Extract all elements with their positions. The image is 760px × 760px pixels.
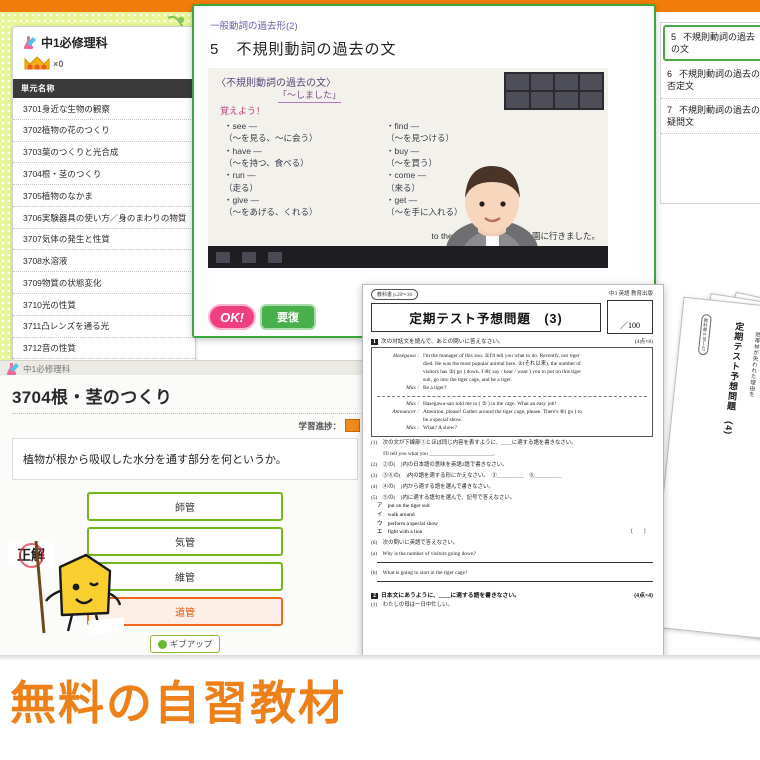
lesson-video[interactable]: 〈不規則動詞の過去の文〉 「～しました」 覚えよう！ ・see —（～を見る、～… xyxy=(208,68,608,268)
dialogue-line: visitors has ③( go ) down. I ④( say / he… xyxy=(377,368,647,376)
dialogue-line: Max :Hasegawa-san told me to ( ⑤ ) in th… xyxy=(377,400,647,408)
unit-list-header: 単元名称 xyxy=(13,79,195,98)
crown-stars-icon xyxy=(23,55,51,73)
unit-row[interactable]: 3703葉のつくりと光合成 xyxy=(13,142,195,164)
dialogue-speaker xyxy=(377,416,419,424)
unit-window-title-text: 中1必修理科 xyxy=(41,34,108,51)
unit-row[interactable]: 3701身近な生物の観察 xyxy=(13,98,195,120)
dialogue-text: suit, go into the tiger cage, and be a t… xyxy=(423,376,512,384)
dialogue-speaker: Max : xyxy=(377,400,419,408)
whiteboard-left-column: ・see —（～を見る、～に会う）・have —（～を持つ、食べる）・run —… xyxy=(224,120,318,219)
test-paper: 教科書 p.28～36 中3 英語 教育出版 定期テスト予想問題 (3) ／10… xyxy=(362,284,664,666)
unit-row[interactable]: 3709物質の状態変化 xyxy=(13,272,195,294)
question-text: 植物が根から吸収した水分を通す部分を何というか。 xyxy=(12,438,358,480)
yellow-house-mascot xyxy=(14,537,124,637)
lesson-title: 不規則動詞の過去の文 xyxy=(237,41,397,58)
paper-choice-option: ア put on the tiger suit xyxy=(363,502,663,511)
q1-points: (4点×8) xyxy=(635,337,653,345)
lesson-side-item-label: 不規則動詞の過去の疑問文 xyxy=(667,105,760,127)
score-box: ／100 xyxy=(607,300,653,334)
whiteboard-line: ・give — xyxy=(224,194,318,206)
lesson-side-item[interactable]: 7不規則動詞の過去の疑問文 xyxy=(661,99,760,134)
sub-question: I'll tell you what you ＿＿＿＿＿＿＿＿＿＿＿＿. xyxy=(363,448,663,459)
lesson-side-item-label: 不規則動詞の過去の文 xyxy=(671,32,755,54)
whiteboard-line: （走る） xyxy=(224,182,318,194)
paper-title-row: 定期テスト予想問題 (3) ／100 xyxy=(363,300,663,334)
dialogue-speaker xyxy=(377,368,419,376)
video-control-bar[interactable] xyxy=(208,246,608,268)
sub-question: (4) ④の( )内から適する語を選んで書きなさい。 xyxy=(363,481,663,492)
lesson-side-item[interactable]: 6不規則動詞の過去の否定文 xyxy=(661,63,760,98)
tool-icon-4[interactable] xyxy=(580,74,603,90)
whiteboard-line: ・run — xyxy=(224,169,318,181)
lesson-side-item[interactable]: 5不規則動詞の過去の文 xyxy=(663,25,760,61)
unit-row[interactable]: 3705植物のなかま xyxy=(13,185,195,207)
dialogue-text: visitors has ③( go ) down. I ④( say / he… xyxy=(423,368,581,376)
flask-pen-icon xyxy=(21,35,37,51)
q1-instruction-text: 次の対話文を読んで、あとの問いに答えなさい。 xyxy=(381,339,504,345)
paper-choice-option: イ walk around xyxy=(363,511,663,520)
progress-chip xyxy=(345,419,360,432)
sub-question: (2) ②の( )内の日本語の意味を英語2語で書きなさい。 xyxy=(363,459,663,470)
answer-rule xyxy=(377,561,653,563)
unit-row[interactable]: 3704根・茎のつくり xyxy=(13,163,195,185)
lesson-number: 5 xyxy=(210,41,219,58)
dialogue-text: Be a tiger? xyxy=(423,384,446,392)
play-icon[interactable] xyxy=(216,252,230,263)
giveup-face-icon xyxy=(158,640,167,649)
dialogue-line: died. He was the most popular animal her… xyxy=(377,360,647,368)
crown-score: ×0 xyxy=(13,53,195,79)
unit-list-card: 中1必修理科 ×0 単元名称 3701身近な生物の観察3702植物の花のつくり3… xyxy=(12,26,196,362)
dialogue-divider xyxy=(377,396,647,397)
dialogue-speaker: Max : xyxy=(377,384,419,392)
q2-row: 2日本文にあうように、＿＿に適する語を書きなさい。 (4点×4) xyxy=(363,586,663,599)
unit-row[interactable]: 3707気体の発生と性質 xyxy=(13,229,195,251)
lesson-heading: 5 不規則動詞の過去の文 xyxy=(194,32,654,65)
review-button[interactable]: 要復 xyxy=(262,306,314,328)
q6-instruction: (6) 次の問いに英語で答えなさい。 xyxy=(363,537,663,548)
whiteboard-note: 覚えよう！ xyxy=(220,104,265,117)
dialogue-speaker: Announcer : xyxy=(377,408,419,416)
dialogue-speaker: Max : xyxy=(377,424,419,432)
q6-item: (a) Why is the number of visitors going … xyxy=(363,548,663,559)
unit-row[interactable]: 3702植物の花のつくり xyxy=(13,120,195,142)
subtitle-icon[interactable] xyxy=(242,252,256,263)
answer-choice[interactable]: 師管 xyxy=(87,492,283,521)
progress-indicator: 学習進捗： xyxy=(0,414,370,432)
dialogue-text: died. He was the most popular animal her… xyxy=(423,360,581,368)
q1-number: 1 xyxy=(371,339,378,345)
whiteboard-line: （～をあげる、くれる） xyxy=(224,206,318,218)
breadcrumb-label: 中1必修理科 xyxy=(23,363,70,375)
banner-headline: 無料の自習教材 xyxy=(10,680,346,726)
dialogue-text: be a special show. xyxy=(423,416,462,424)
progress-label: 学習進捗： xyxy=(298,420,341,432)
lesson-side-item-label: 不規則動詞の過去の否定文 xyxy=(667,69,760,91)
dialogue-text: What? A show? xyxy=(423,424,457,432)
q2-number: 2 xyxy=(371,593,378,599)
lesson-side-list: 5不規則動詞の過去の文6不規則動詞の過去の否定文7不規則動詞の過去の疑問文 xyxy=(660,22,760,204)
dialogue-line: Max :What? A show? xyxy=(377,424,647,432)
sub-question-list: (1) 次の文が下線部①とほぼ同じ内容を表すように、＿＿に適する語を書きなさい。… xyxy=(363,437,663,502)
video-tool-strip[interactable] xyxy=(504,72,604,110)
q1-instruction: 1次の対話文を読んで、あとの問いに答えなさい。 xyxy=(371,337,504,345)
shuffle-icon[interactable] xyxy=(268,252,282,263)
crown-count: ×0 xyxy=(53,59,64,69)
q1-instruction-row: 1次の対話文を読んで、あとの問いに答えなさい。 (4点×8) xyxy=(363,334,663,347)
dialogue-line: Max :Be a tiger? xyxy=(377,384,647,392)
whiteboard-line: ・have — xyxy=(224,145,318,157)
textbook-tag: 教科書 p.28～36 xyxy=(371,289,418,300)
q6-item-list: (a) Why is the number of visitors going … xyxy=(363,548,663,582)
giveup-label: ギブアップ xyxy=(170,638,213,650)
lesson-action-row: OK! 要復 xyxy=(210,306,314,328)
paper-title: 定期テスト予想問題 (3) xyxy=(371,303,601,332)
dialogue-box: Hasegawa :I'm the manager of this zoo. ①… xyxy=(371,347,653,437)
paper-choice-option: ウ perform a special show xyxy=(363,520,663,529)
sub-question: (3) ③⑥の( )内の語を適する形にかえなさい。 ③＿＿＿＿＿ ⑥＿＿＿＿＿ xyxy=(363,470,663,481)
q2-points: (4点×4) xyxy=(634,590,653,599)
tool-icon-1[interactable] xyxy=(506,74,529,90)
quiz-title: 3704根・茎のつくり xyxy=(0,375,370,412)
giveup-row: ギブアップ xyxy=(0,635,370,653)
dialogue-text: Attention, please! Gather around the tig… xyxy=(423,408,582,416)
whiteboard-line: （～を持つ、食べる） xyxy=(224,157,318,169)
tool-icon-5[interactable] xyxy=(506,92,529,108)
ok-button[interactable]: OK! xyxy=(210,306,254,328)
answer-rule xyxy=(377,580,653,582)
dialogue-speaker xyxy=(377,376,419,384)
whiteboard-line: ・see — xyxy=(224,120,318,132)
tool-icon-2[interactable] xyxy=(531,74,554,90)
lesson-side-item-number: 7 xyxy=(667,105,672,115)
q6-item: (b) What is going to start in the tiger … xyxy=(363,567,663,578)
dialogue-line: Announcer :Attention, please! Gather aro… xyxy=(377,408,647,416)
paper-top-row: 教科書 p.28～36 中3 英語 教育出版 xyxy=(363,285,663,300)
q2-instruction: 2日本文にあうように、＿＿に適する語を書きなさい。 xyxy=(371,590,520,599)
tool-icon-8[interactable] xyxy=(580,92,603,108)
whiteboard-title: 〈不規則動詞の過去の文〉 xyxy=(216,74,336,89)
unit-list: 3701身近な生物の観察3702植物の花のつくり3703葉のつくりと光合成370… xyxy=(13,98,195,362)
lesson-side-item-number: 5 xyxy=(671,32,676,42)
lesson-side-item-number: 6 xyxy=(667,69,672,79)
dialogue-line: Hasegawa :I'm the manager of this zoo. ①… xyxy=(377,352,647,360)
giveup-button[interactable]: ギブアップ xyxy=(150,635,221,653)
sub-question: (5) ⑤の( )内に適する語句を選んで、記号で答えなさい。 xyxy=(363,492,663,503)
unit-row[interactable]: 3706実験器具の使い方／身のまわりの物質 xyxy=(13,207,195,229)
tool-icon-6[interactable] xyxy=(531,92,554,108)
lesson-subtitle: 一般動詞の過去形(2) xyxy=(194,6,654,32)
paper-choice-option: エ fight with a lion〔 〕 xyxy=(363,528,663,537)
dialogue-text: I'm the manager of this zoo. ①I'll tell … xyxy=(423,352,580,360)
unit-row[interactable]: 3711凸レンズを通る光 xyxy=(13,316,195,338)
unit-row[interactable]: 3708水溶液 xyxy=(13,250,195,272)
q2-instruction-text: 日本文にあうように、＿＿に適する語を書きなさい。 xyxy=(381,593,520,599)
tool-icon-7[interactable] xyxy=(555,92,578,108)
dialogue-line: suit, go into the tiger cage, and be a t… xyxy=(377,376,647,384)
unit-row[interactable]: 3710光の性質 xyxy=(13,294,195,316)
q2-first-item: (1) わたしの母は一日中忙しい。 xyxy=(363,599,663,610)
dialogue-text: Hasegawa-san told me to ( ⑤ ) in the cag… xyxy=(423,400,556,408)
unit-window-title: 中1必修理科 xyxy=(13,27,195,53)
unit-row[interactable]: 3712音の性質 xyxy=(13,338,195,360)
dialogue-speaker: Hasegawa : xyxy=(377,352,419,360)
paper-meta: 中3 英語 教育出版 xyxy=(609,289,653,297)
tool-icon-3[interactable] xyxy=(555,74,578,90)
dialogue-line: be a special show. xyxy=(377,416,647,424)
whiteboard-subtitle: 「～しました」 xyxy=(278,88,341,103)
dialogue-speaker xyxy=(377,360,419,368)
answer-bracket: 〔 〕 xyxy=(627,528,649,537)
whiteboard-line: （～を見る、～に会う） xyxy=(224,132,318,144)
choice-option-list: ア put on the tiger suitイ walk aroundウ pe… xyxy=(363,502,663,537)
sub-question: (1) 次の文が下線部①とほぼ同じ内容を表すように、＿＿に適する語を書きなさい。 xyxy=(363,437,663,448)
